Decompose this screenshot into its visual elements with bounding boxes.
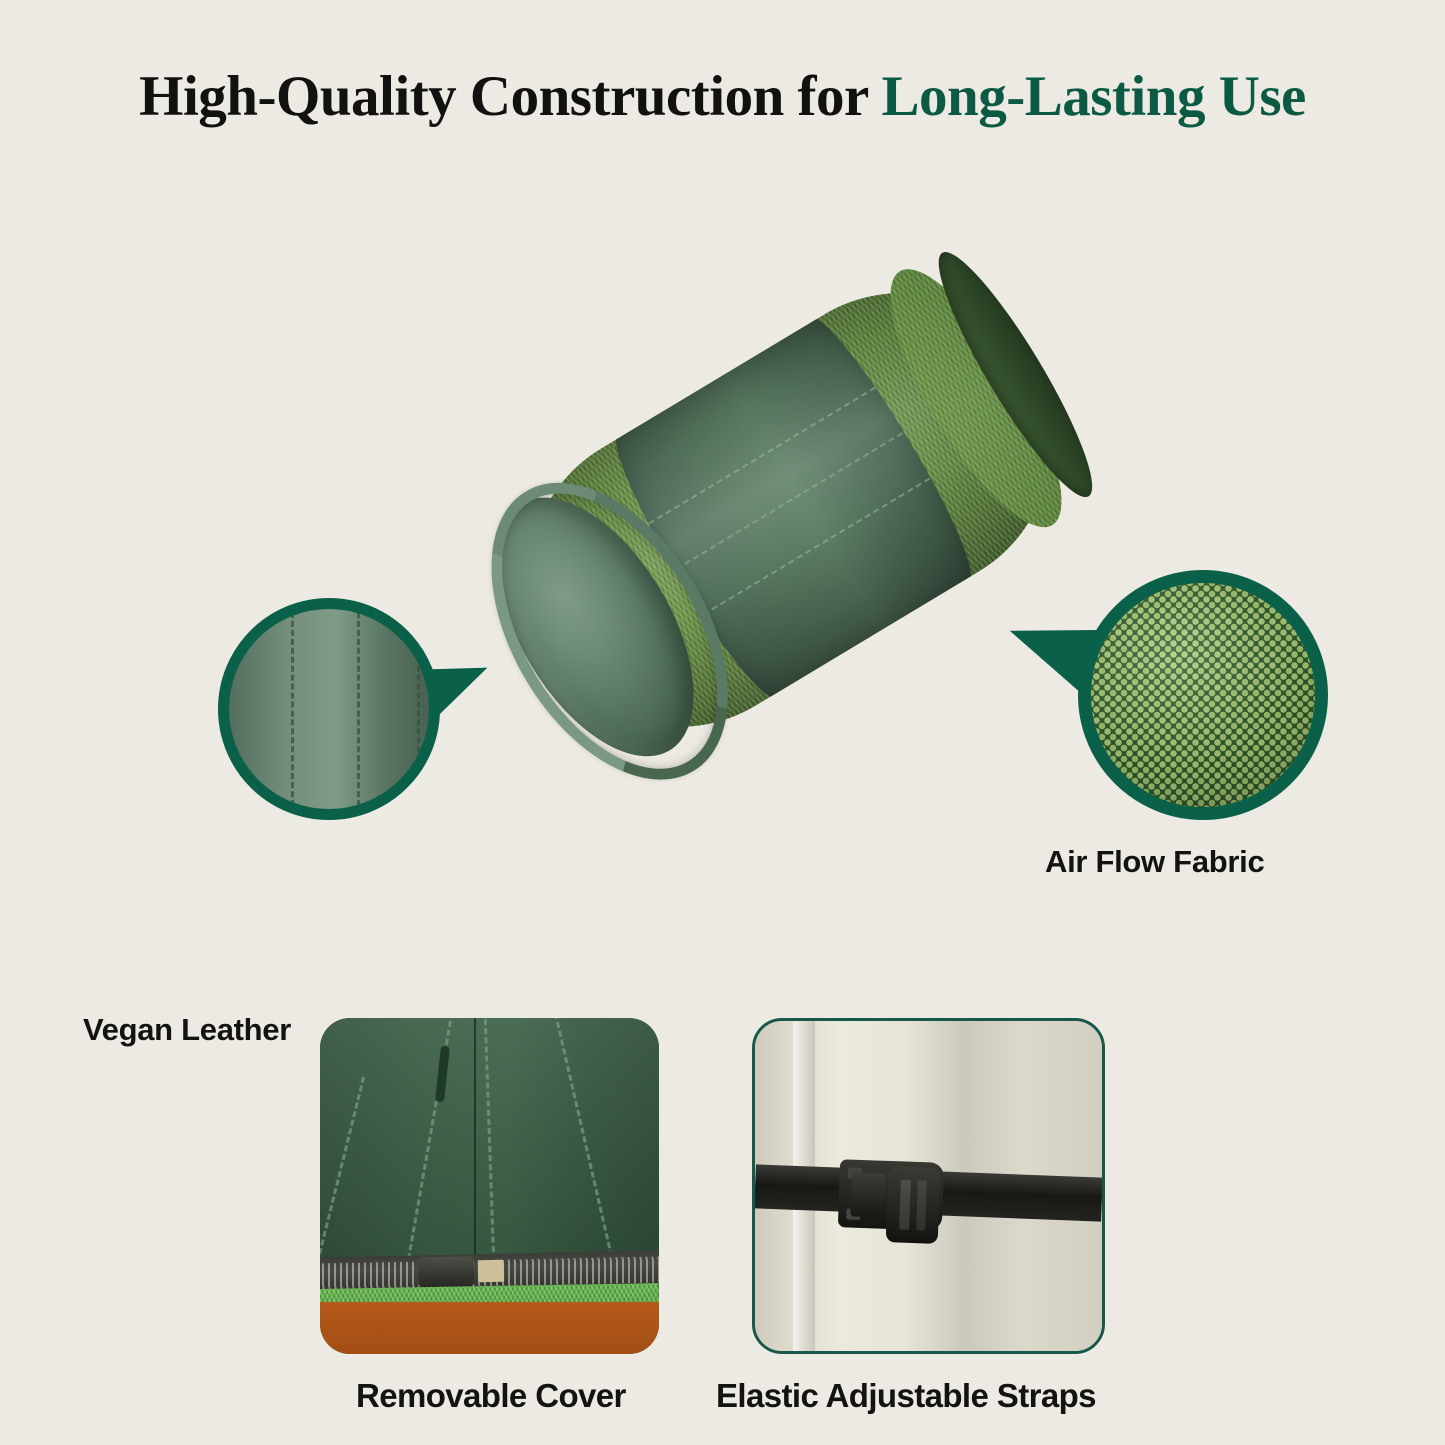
stitch-line	[417, 603, 420, 815]
zipper-stop-block	[478, 1260, 504, 1283]
buckle-prong	[850, 1172, 886, 1217]
callout-swatch-vegan-leather	[218, 598, 440, 820]
feature-card-removable-cover	[320, 1018, 659, 1354]
stitch-line	[483, 1018, 495, 1270]
callout-swatch-air-flow-fabric	[1078, 570, 1328, 820]
cover-leather-surface	[320, 1018, 659, 1264]
caption-removable-cover: Removable Cover	[356, 1377, 626, 1415]
callout-label-air-flow-fabric: Air Flow Fabric	[1045, 844, 1264, 880]
product-image-bolster-pillow	[430, 265, 1150, 805]
zipper-slider	[418, 1256, 475, 1287]
wood-surface	[320, 1302, 659, 1354]
page-title-accent: Long-Lasting Use	[882, 65, 1306, 128]
stitch-line	[554, 1018, 613, 1257]
knit-mesh-sheen	[1091, 583, 1315, 807]
pillow-cylinder	[473, 237, 1108, 783]
feature-card-elastic-straps	[752, 1018, 1105, 1354]
stitch-line	[357, 603, 360, 815]
strap-length-adjuster	[886, 1166, 941, 1244]
leather-fold-line	[474, 1018, 476, 1258]
stitch-line	[320, 1077, 365, 1272]
caption-elastic-straps: Elastic Adjustable Straps	[716, 1377, 1096, 1415]
stitch-line	[291, 603, 294, 815]
leather-panel-seam	[676, 432, 903, 570]
page-title: High-Quality Construction for Long-Lasti…	[0, 66, 1445, 129]
hero-product-section: Vegan Leather Air Flow Fabric	[0, 150, 1445, 950]
feature-cards-row	[0, 1018, 1445, 1358]
page-title-primary: High-Quality Construction for	[139, 65, 881, 128]
